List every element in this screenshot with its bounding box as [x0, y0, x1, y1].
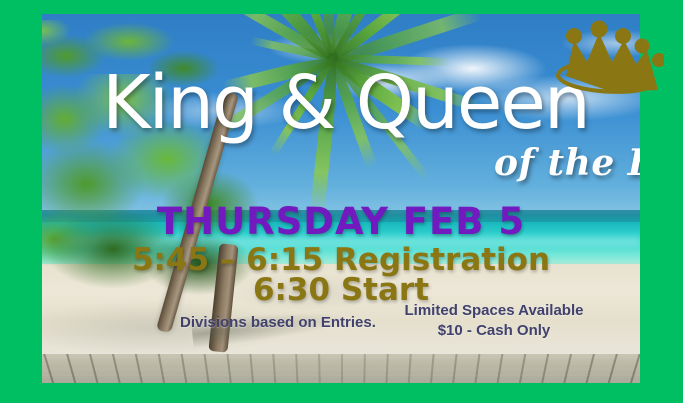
deck-grain-line [42, 381, 640, 382]
deck-grain-line [42, 369, 640, 370]
wooden-deck [42, 354, 640, 383]
note-price: $10 - Cash Only [394, 322, 594, 339]
poster-subtitle: of the Beach [494, 142, 640, 184]
event-date: THURSDAY FEB 5 [42, 200, 640, 243]
deck-grain-line [42, 363, 640, 364]
note-limited-spaces: Limited Spaces Available [394, 302, 594, 319]
deck-grain-line [42, 375, 640, 376]
note-divisions: Divisions based on Entries. [180, 314, 376, 331]
deck-grain-line [42, 357, 640, 358]
page-title: King & Queen [102, 66, 589, 140]
beach-photo-background: King & Queen of the Beach THURSDAY FEB 5… [42, 14, 640, 383]
event-poster: King & Queen of the Beach THURSDAY FEB 5… [0, 0, 683, 403]
crown-icon [554, 20, 664, 98]
